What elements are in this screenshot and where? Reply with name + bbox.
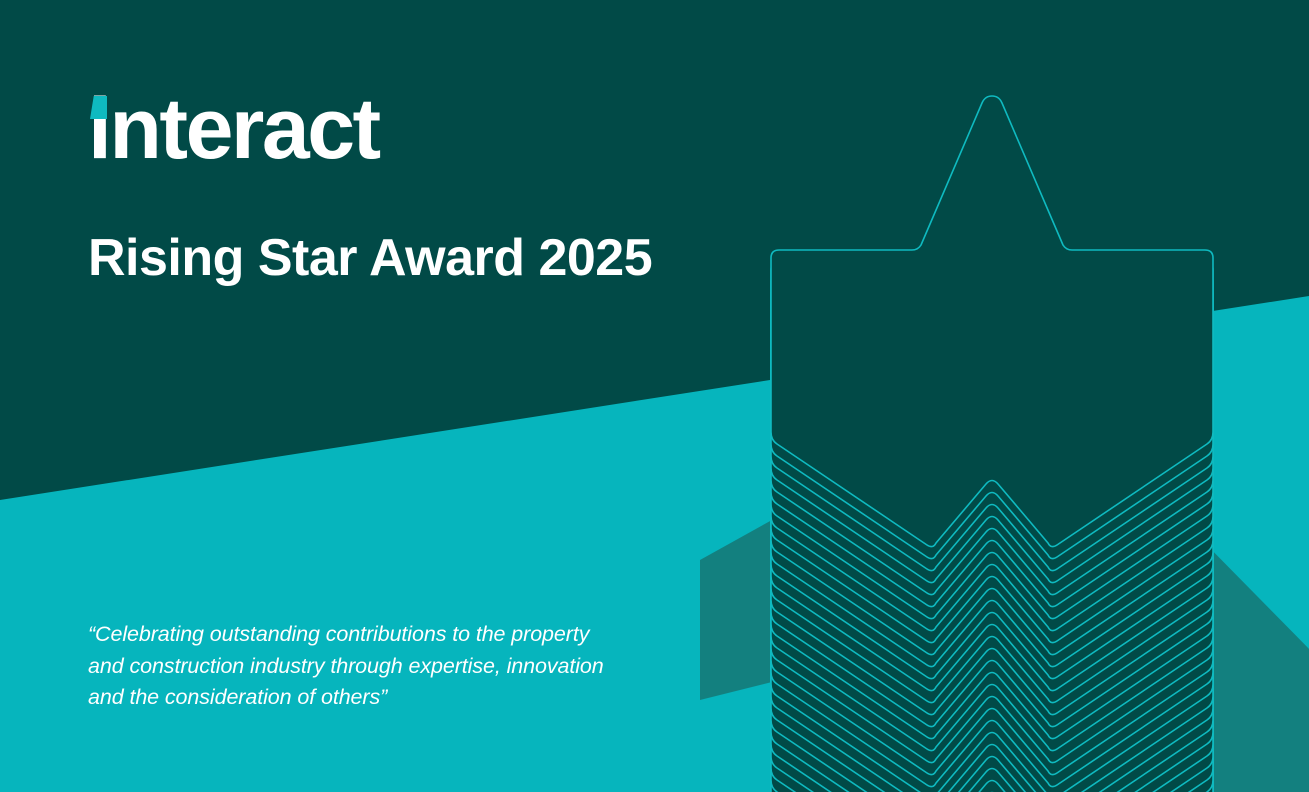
quote-line-2: and construction industry through expert…: [88, 651, 648, 683]
logo-wordmark-text: interact: [88, 88, 379, 170]
award-slide: interact Rising Star Award 2025 “Celebra…: [0, 0, 1309, 792]
quote-line-1: “Celebrating outstanding contributions t…: [88, 619, 648, 651]
quote-line-3: and the consideration of others”: [88, 682, 648, 714]
interact-logo: interact: [88, 88, 379, 170]
page-title: Rising Star Award 2025: [88, 228, 652, 288]
award-quote: “Celebrating outstanding contributions t…: [88, 619, 648, 714]
slide-content: interact Rising Star Award 2025 “Celebra…: [0, 0, 1309, 792]
